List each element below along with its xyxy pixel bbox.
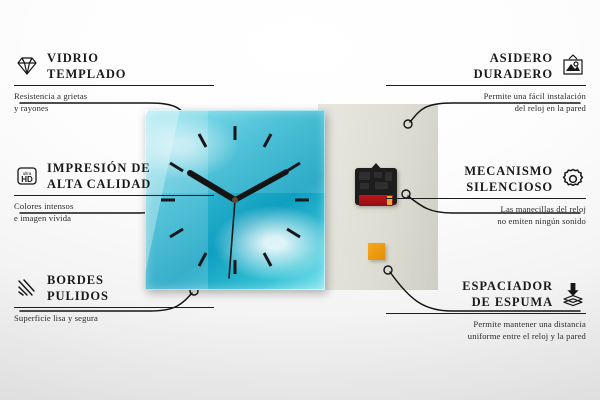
feature-impresion-alta-calidad: ultra HD IMPRESIÓN DE ALTA CALIDAD Color…: [14, 160, 214, 224]
feature-description: Colores intensos e imagen vívida: [14, 200, 214, 224]
framed-picture-hanger-icon: [560, 53, 586, 79]
feature-title: ESPACIADOR DE ESPUMA: [462, 278, 553, 310]
title-rule: [14, 195, 214, 196]
feature-mecanismo-silencioso: MECANISMO SILENCIOSO Las manecillas del …: [386, 163, 586, 227]
diamond-icon: [14, 53, 40, 79]
feature-description: Las manecillas del reloj no emiten ningú…: [386, 203, 586, 227]
feature-bordes-pulidos: BORDES PULIDOS Superficie lisa y segura: [14, 272, 214, 324]
feature-title: ASIDERO DURADERO: [474, 50, 553, 82]
infographic-canvas: VIDRIO TEMPLADO Resistencia a grietas y …: [0, 0, 600, 400]
title-rule: [386, 198, 586, 199]
clock-hand-minute: [235, 172, 286, 200]
clock-hand-second: [229, 200, 235, 278]
svg-text:HD: HD: [21, 175, 33, 184]
title-rule: [14, 307, 214, 308]
feature-description: Permite mantener una distancia uniforme …: [386, 318, 586, 342]
feature-description: Superficie lisa y segura: [14, 312, 214, 324]
feature-description: Permite una fácil instalación del reloj …: [386, 90, 586, 114]
feature-title: IMPRESIÓN DE ALTA CALIDAD: [47, 160, 151, 192]
clock-center-cap: [232, 197, 238, 203]
feature-title: BORDES PULIDOS: [47, 272, 109, 304]
feature-espaciador-de-espuma: ESPACIADOR DE ESPUMA Permite mantener un…: [386, 278, 586, 342]
feature-vidrio-templado: VIDRIO TEMPLADO Resistencia a grietas y …: [14, 50, 214, 114]
title-rule: [14, 85, 214, 86]
feature-title: MECANISMO SILENCIOSO: [464, 163, 553, 195]
gear-icon: [560, 166, 586, 192]
foam-spacer-pad: [368, 243, 385, 260]
feature-description: Resistencia a grietas y rayones: [14, 90, 214, 114]
feature-asidero-duradero: ASIDERO DURADERO Permite una fácil insta…: [386, 50, 586, 114]
polished-edges-icon: [14, 275, 40, 301]
connector-endpoint-asidero: [404, 120, 412, 128]
title-rule: [386, 313, 586, 314]
feature-title: VIDRIO TEMPLADO: [47, 50, 126, 82]
foam-spacer-arrow-icon: [560, 281, 586, 307]
connector-endpoint-espaciador: [384, 266, 392, 274]
title-rule: [386, 85, 586, 86]
ultra-hd-icon: ultra HD: [14, 163, 40, 189]
